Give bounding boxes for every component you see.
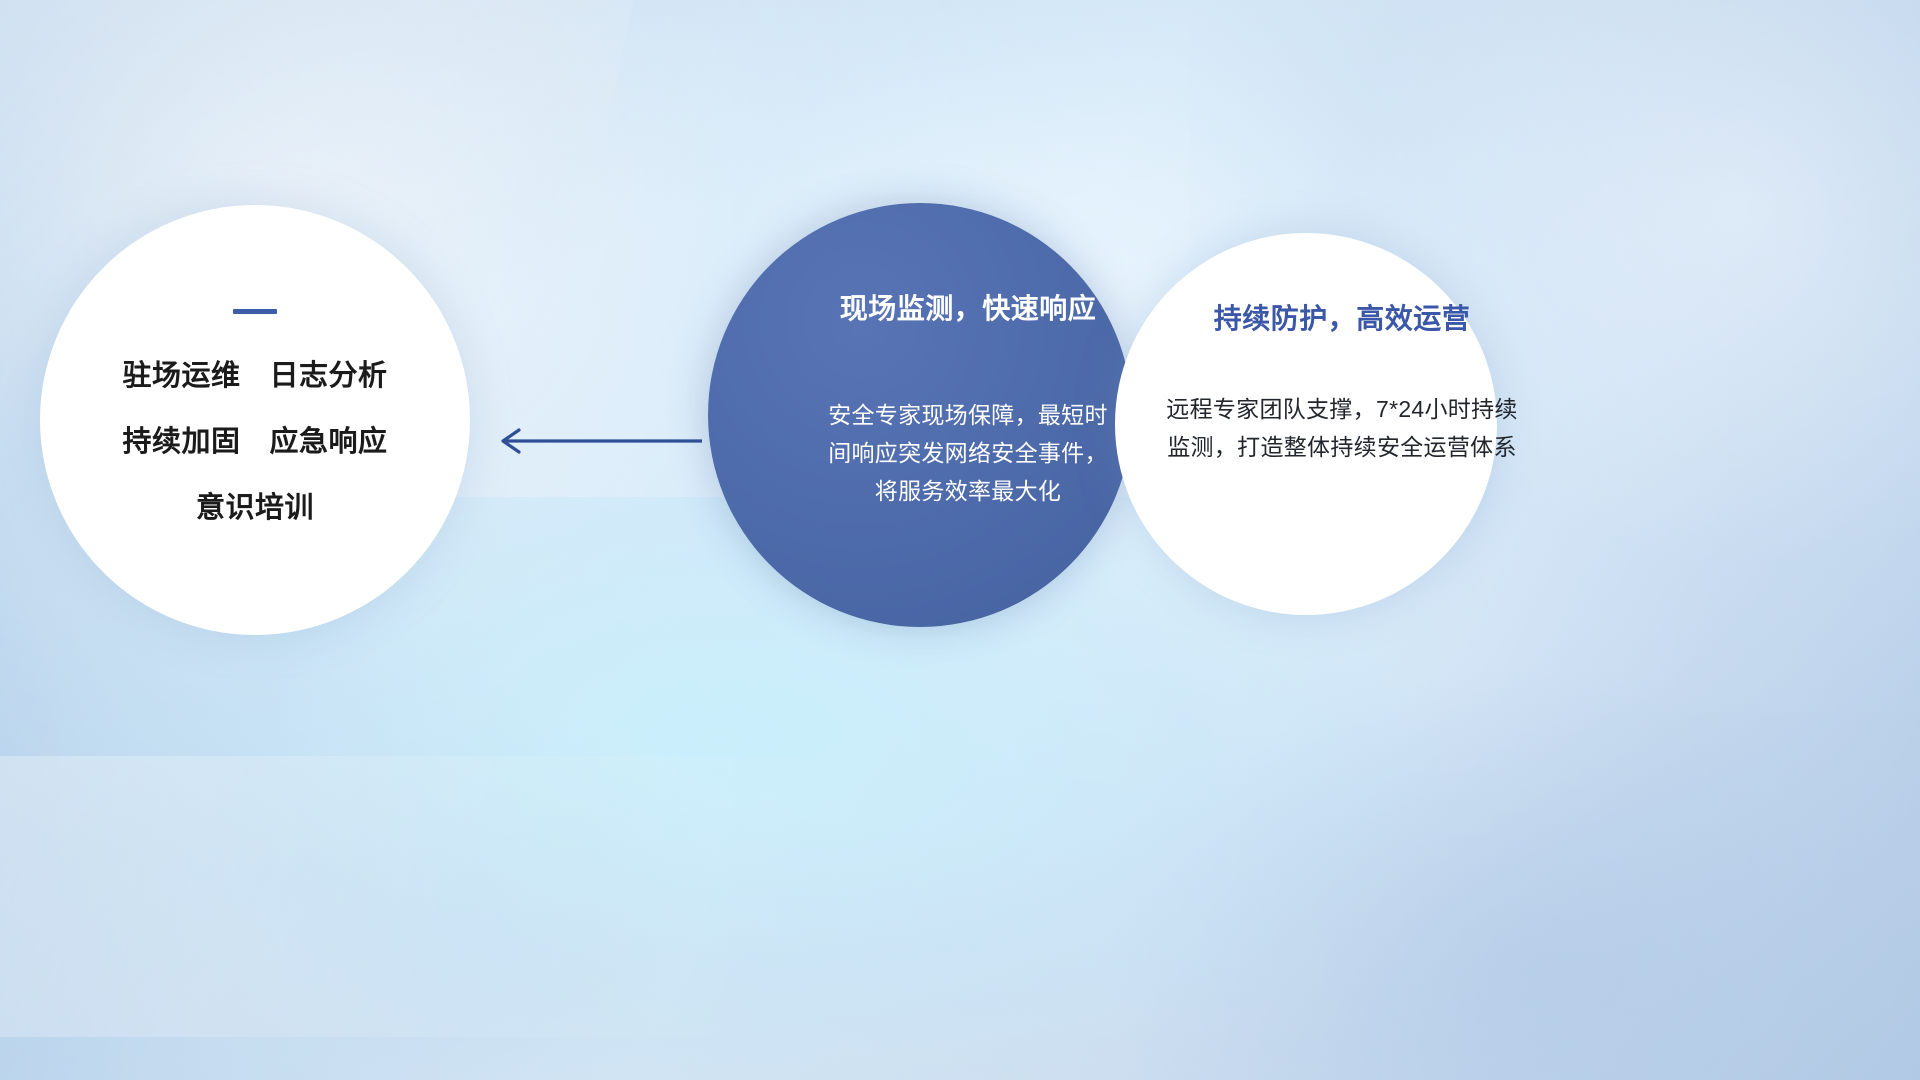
keyword-chip[interactable]: 日志分析 [270, 362, 388, 391]
node-onsite-monitoring[interactable]: 现场监测，快速响应 安全专家现场保障，最短时间响应突发网络安全事件，将服务效率最… [708, 203, 1132, 627]
keyword-chip[interactable]: 驻场运维 [122, 362, 240, 391]
node-continuous-protection-body: 远程专家团队支撑，7*24小时持续监测，打造整体持续安全运营体系 [1166, 391, 1518, 466]
keyword-row: 持续加固 应急响应 [122, 428, 387, 457]
node-onsite-monitoring-body: 安全专家现场保障，最短时间响应突发网络安全事件，将服务效率最大化 [825, 396, 1111, 511]
node-continuous-protection-content: 持续防护，高效运营 远程专家团队支撑，7*24小时持续监测，打造整体持续安全运营… [1115, 233, 1497, 615]
dash-accent-icon [233, 309, 277, 314]
keyword-chip[interactable]: 持续加固 [122, 428, 240, 457]
keyword-row: 意识培训 [196, 494, 314, 523]
node-onsite-monitoring-title: 现场监测，快速响应 [840, 295, 1097, 323]
node-continuous-protection[interactable]: 持续防护，高效运营 远程专家团队支撑，7*24小时持续监测，打造整体持续安全运营… [1115, 233, 1497, 615]
keyword-chip[interactable]: 应急响应 [270, 428, 388, 457]
keyword-chip[interactable]: 意识培训 [196, 494, 314, 523]
arrow-connector-right-to-left [490, 424, 706, 458]
node-capabilities-content: 驻场运维 日志分析 持续加固 应急响应 意识培训 [40, 205, 470, 635]
node-capabilities[interactable]: 驻场运维 日志分析 持续加固 应急响应 意识培训 [40, 205, 470, 635]
node-continuous-protection-title: 持续防护，高效运营 [1214, 305, 1471, 333]
keyword-row: 驻场运维 日志分析 [122, 362, 387, 391]
node-onsite-monitoring-content: 现场监测，快速响应 安全专家现场保障，最短时间响应突发网络安全事件，将服务效率最… [708, 203, 1132, 627]
